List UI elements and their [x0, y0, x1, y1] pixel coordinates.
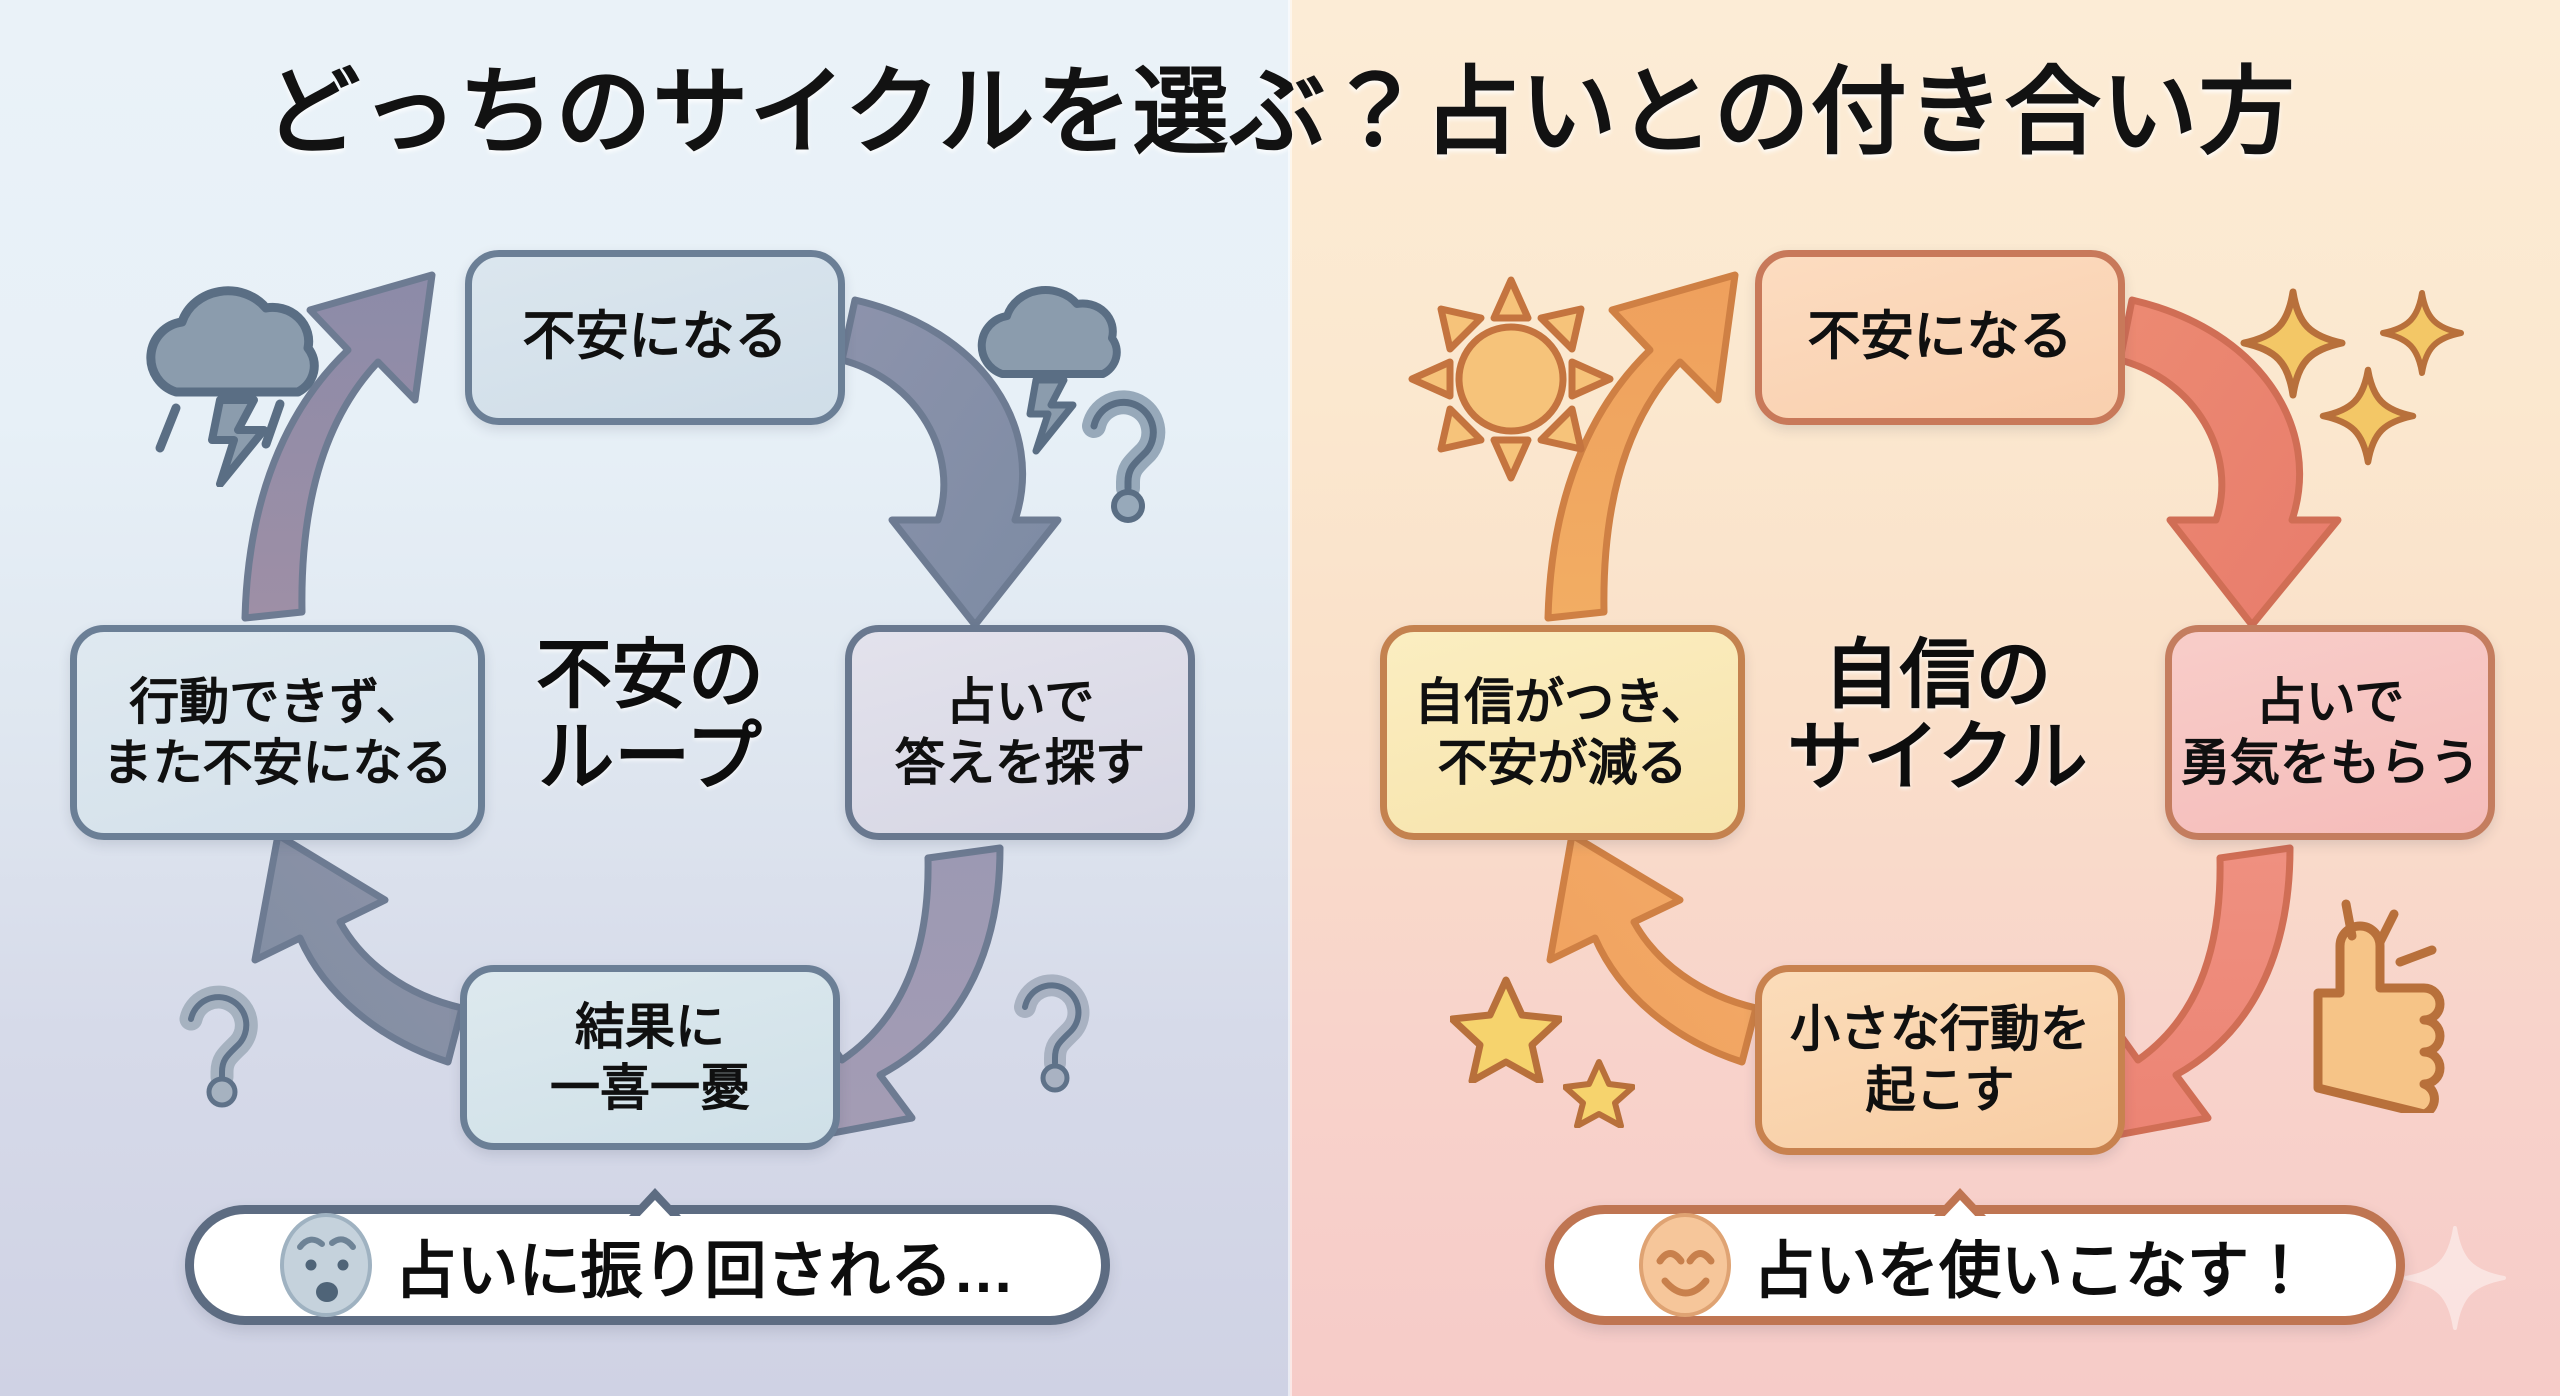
- sparkle-icon: [2400, 1222, 2510, 1339]
- node-confidence-become-anxious[interactable]: 不安になる: [1755, 250, 2125, 425]
- banner-tail-inner: [636, 1200, 674, 1220]
- node-confidence-receive-courage-from-fortune[interactable]: 占いで 勇気をもらう: [2165, 625, 2495, 840]
- anxiety-loop-center-label: 不安の ループ: [500, 635, 800, 799]
- confidence-cycle-summary-banner: 占いを使いこなす！: [1545, 1205, 2405, 1325]
- panel-divider: [1288, 0, 1292, 1396]
- anxiety-loop-summary-text: 占いに振り回される…: [394, 1220, 1014, 1310]
- star-icon: [1450, 975, 1562, 1088]
- node-confidence-gain-confidence-less-anxiety[interactable]: 自信がつき、 不安が減る: [1380, 625, 1745, 840]
- anxious-face-icon: [280, 1213, 372, 1317]
- page-title: どっちのサイクルを選ぶ？占いとの付き合い方: [0, 34, 2560, 173]
- question-mark-icon: [1005, 965, 1105, 1100]
- smiling-face-icon: [1639, 1213, 1731, 1317]
- sparkle-icon: [2318, 365, 2418, 472]
- thumbs-up-icon: [2308, 898, 2498, 1118]
- node-anxiety-seek-answers-in-fortune[interactable]: 占いで 答えを探す: [845, 625, 1195, 840]
- node-confidence-take-small-action[interactable]: 小さな行動を 起こす: [1755, 965, 2125, 1155]
- node-anxiety-become-anxious[interactable]: 不安になる: [465, 250, 845, 425]
- confidence-cycle-center-label: 自信の サイクル: [1785, 635, 2090, 799]
- question-mark-icon: [1072, 380, 1182, 530]
- banner-tail-inner: [1941, 1200, 1979, 1220]
- star-icon: [1563, 1058, 1635, 1133]
- infographic-canvas: どっちのサイクルを選ぶ？占いとの付き合い方: [0, 0, 2560, 1396]
- node-anxiety-emotional-ups-and-downs[interactable]: 結果に 一喜一憂: [460, 965, 840, 1150]
- anxiety-loop-summary-banner: 占いに振り回される…: [185, 1205, 1110, 1325]
- node-anxiety-cannot-act-anxious-again[interactable]: 行動できず、 また不安になる: [70, 625, 485, 840]
- confidence-cycle-summary-text: 占いを使いこなす！: [1753, 1220, 2311, 1310]
- question-mark-icon: [170, 975, 275, 1115]
- storm-cloud-icon: [128, 272, 358, 492]
- sun-icon: [1404, 272, 1619, 492]
